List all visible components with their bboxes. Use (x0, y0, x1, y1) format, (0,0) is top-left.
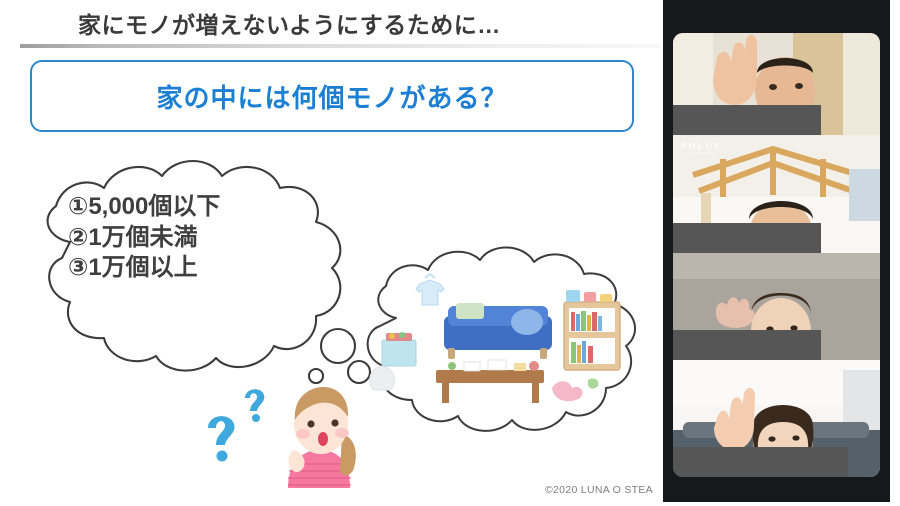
participant-name-redaction-2 (673, 223, 821, 253)
video-tile-participant-3[interactable] (673, 253, 880, 360)
thought-cloud-room-illustration (352, 240, 642, 445)
video-tile-participant-4[interactable] (673, 360, 880, 477)
video-tile-participant-1[interactable] (673, 33, 880, 135)
bookshelf-icon (564, 290, 620, 370)
page-title: 家にモノが増えないようにするために… (78, 6, 501, 40)
puzzled-character-illustration (196, 376, 366, 506)
copyright-notice: ©2020 LUNA O STEA (545, 484, 653, 496)
slide-content-area: 家にモノが増えないようにするために… 家の中には何個モノがある？ ①5,000個… (0, 0, 663, 506)
answer-list: ①5,000個以下 ②1万個未満 ③1万個以上 (68, 192, 328, 284)
video-tile-participant-2[interactable]: POLUS LIFE DESIGN (673, 135, 880, 253)
title-divider (20, 44, 660, 48)
video-participants-panel: POLUS LIFE DESIGN (663, 0, 890, 502)
presentation-screen: 家にモノが増えないようにするために… 家の中には何個モノがある？ ①5,000個… (0, 0, 900, 506)
list-item: ②1万個未満 (68, 223, 328, 254)
avatar (288, 387, 356, 488)
participant-name-redaction-1 (673, 105, 821, 135)
question-callout-box: 家の中には何個モノがある？ (30, 60, 634, 132)
list-item: ③1万個以上 (68, 253, 328, 284)
list-item: ①5,000個以下 (68, 192, 328, 223)
participant-name-redaction-4 (673, 447, 848, 477)
toy-box-icon (382, 332, 416, 366)
question-mark-icon (245, 389, 264, 422)
question-mark-icon (208, 416, 235, 461)
question-text: 家の中には何個モノがある？ (156, 78, 507, 115)
participant-name-redaction-3 (673, 330, 821, 360)
polus-watermark: POLUS LIFE DESIGN (681, 141, 721, 155)
